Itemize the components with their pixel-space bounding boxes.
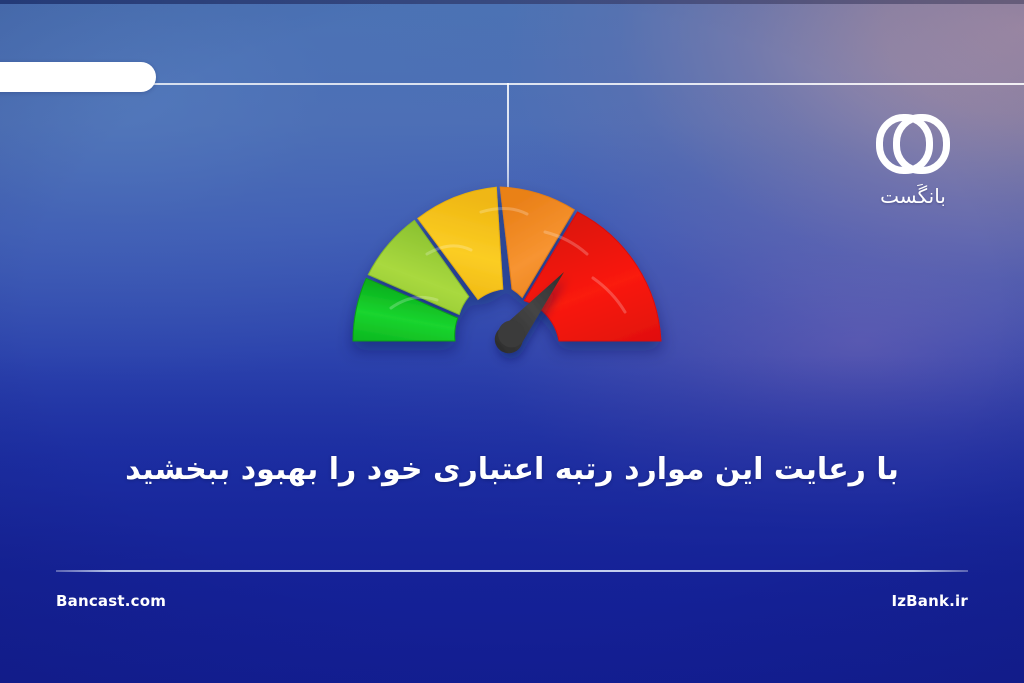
page-title: با رعایت این موارد رتبه اعتباری خود را ب… bbox=[0, 448, 1024, 492]
credit-score-banner: بانگَست bbox=[0, 0, 1024, 683]
gauge-segments bbox=[353, 187, 661, 341]
credit-score-gauge bbox=[331, 168, 683, 388]
top-left-pill-accent bbox=[0, 62, 156, 92]
background-top-edge bbox=[0, 0, 1024, 4]
brand-name-label: بانگَست bbox=[854, 186, 972, 206]
footer-link-bancast[interactable]: Bancast.com bbox=[56, 592, 166, 610]
footer-link-izbank[interactable]: IzBank.ir bbox=[891, 592, 968, 610]
brand-block: بانگَست bbox=[854, 112, 972, 206]
footer-bar: Bancast.com IzBank.ir bbox=[56, 592, 968, 610]
double-ring-o-logo-icon bbox=[854, 112, 972, 180]
footer-divider-rule bbox=[56, 570, 968, 572]
